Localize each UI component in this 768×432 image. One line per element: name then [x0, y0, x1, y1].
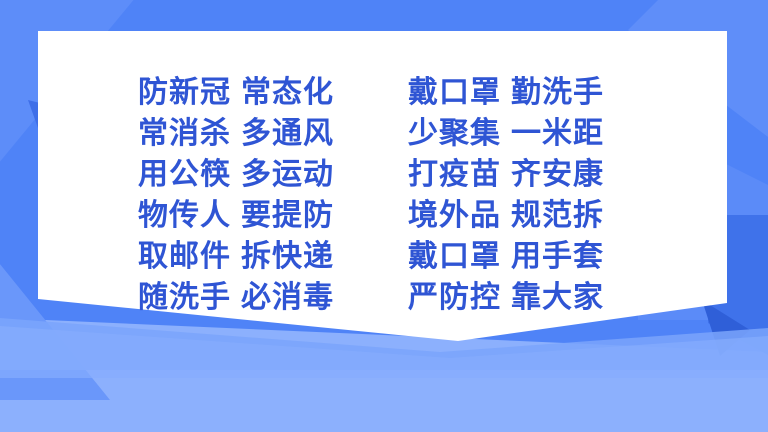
slogan-part: 勤洗手: [511, 75, 604, 110]
slogan-columns: 防新冠常态化 常消杀多通风 用公筷多运动 物传人要提防 取邮件拆快递 随洗手必消…: [38, 31, 727, 341]
slogan-part: 规范拆: [511, 198, 604, 233]
slogan-part: 用公筷: [138, 157, 231, 192]
poster-canvas: 防新冠常态化 常消杀多通风 用公筷多运动 物传人要提防 取邮件拆快递 随洗手必消…: [0, 0, 768, 432]
slogan-line: 境外品规范拆: [408, 195, 604, 236]
slogan-part: 少聚集: [408, 116, 501, 151]
slogan-line: 少聚集一米距: [408, 113, 604, 154]
slogan-part: 常消杀: [138, 116, 231, 151]
slogan-line: 常消杀多通风: [138, 113, 334, 154]
slogan-part: 随洗手: [138, 280, 231, 315]
slogan-line: 取邮件拆快递: [138, 236, 334, 277]
slogan-part: 齐安康: [511, 157, 604, 192]
slogan-part: 用手套: [511, 239, 604, 274]
slogan-part: 物传人: [138, 198, 231, 233]
slogan-part: 取邮件: [138, 239, 231, 274]
slogan-line: 打疫苗齐安康: [408, 154, 604, 195]
slogan-part: 一米距: [511, 116, 604, 151]
slogan-part: 防新冠: [138, 75, 231, 110]
slogan-part: 戴口罩: [408, 239, 501, 274]
slogan-part: 常态化: [241, 75, 334, 110]
slogan-part: 必消毒: [241, 280, 334, 315]
slogan-line: 用公筷多运动: [138, 154, 334, 195]
slogan-part: 多运动: [241, 157, 334, 192]
slogan-part: 多通风: [241, 116, 334, 151]
slogan-line: 戴口罩勤洗手: [408, 72, 604, 113]
slogan-part: 要提防: [241, 198, 334, 233]
slogan-part: 戴口罩: [408, 75, 501, 110]
slogan-part: 严防控: [408, 280, 501, 315]
slogan-column-left: 防新冠常态化 常消杀多通风 用公筷多运动 物传人要提防 取邮件拆快递 随洗手必消…: [138, 31, 334, 341]
slogan-line: 物传人要提防: [138, 195, 334, 236]
slogan-line: 防新冠常态化: [138, 72, 334, 113]
slogan-part: 拆快递: [241, 239, 334, 274]
slogan-line: 随洗手必消毒: [138, 277, 334, 318]
slogan-part: 靠大家: [511, 280, 604, 315]
slogan-part: 打疫苗: [408, 157, 501, 192]
slogan-column-right: 戴口罩勤洗手 少聚集一米距 打疫苗齐安康 境外品规范拆 戴口罩用手套 严防控靠大…: [408, 31, 604, 341]
slogan-part: 境外品: [408, 198, 501, 233]
slogan-line: 戴口罩用手套: [408, 236, 604, 277]
slogan-line: 严防控靠大家: [408, 277, 604, 318]
